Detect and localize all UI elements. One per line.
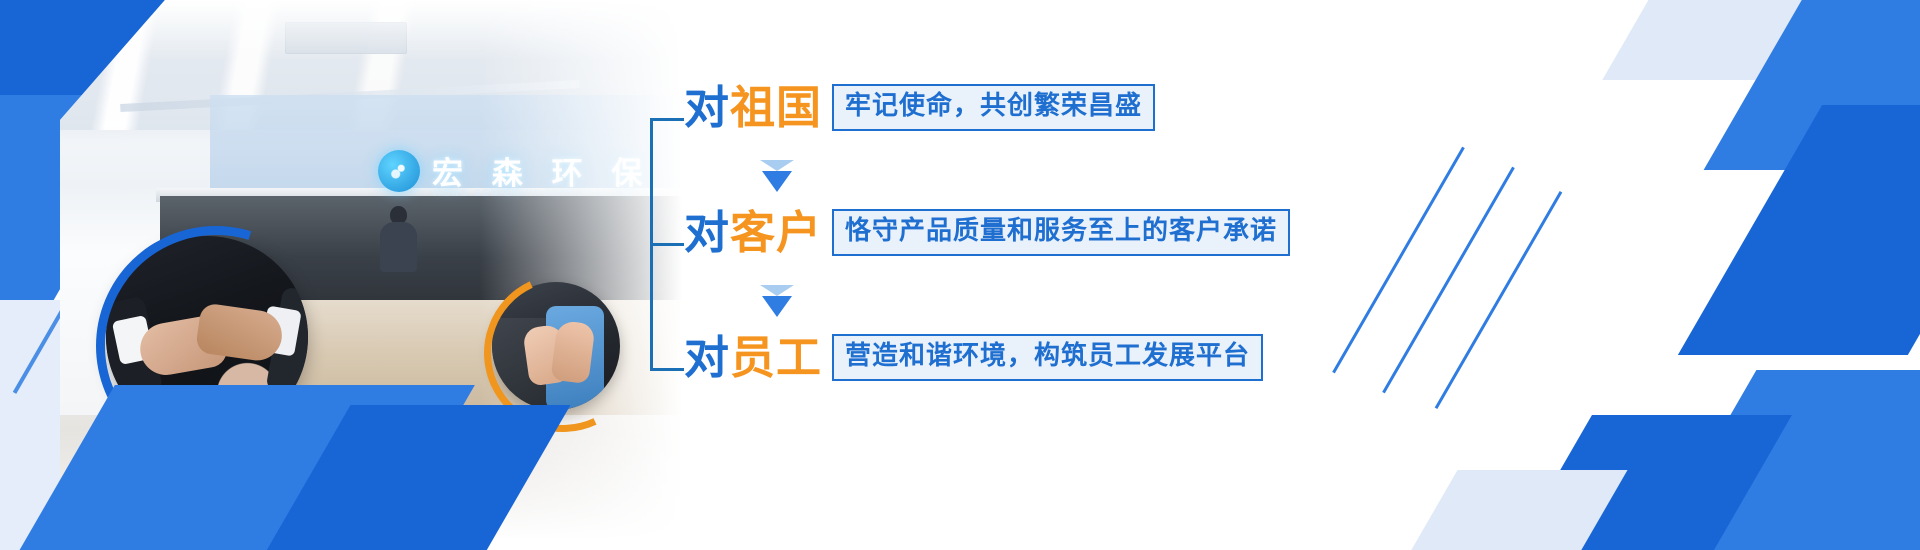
commitment-statement-employee: 营造和谐环境，构筑员工发展平台 (832, 334, 1263, 381)
lead-prefix-country: 对 (684, 81, 730, 134)
deco-right-bottom-dark (1488, 415, 1792, 550)
lead-prefix-customer: 对 (684, 206, 730, 259)
promo-banner: 宏 森 环 保 HONG SEN ENVIRONMENTAL PROTECTIO… (0, 0, 1920, 550)
bracket-tick-2 (650, 243, 684, 246)
commitment-row-customer: 对客户 恪守产品质量和服务至上的客户承诺 (684, 209, 1290, 256)
deco-right-bottom-pale (1382, 470, 1627, 550)
commitment-lead-employee: 对员工 (684, 335, 822, 380)
lead-prefix-employee: 对 (684, 331, 730, 384)
deco-right-mid-blue (1678, 105, 1920, 355)
bracket-tick-1 (650, 118, 684, 121)
lead-subject-employee: 员工 (730, 331, 822, 384)
deco-right-bottom-blue (1624, 370, 1920, 550)
bracket-tick-3 (650, 368, 684, 371)
deco-right-top-blue (1704, 0, 1920, 170)
company-logo-icon (378, 150, 420, 192)
deco-right-line-3 (1435, 191, 1563, 409)
lead-subject-country: 祖国 (730, 81, 822, 134)
triangle-top-1 (760, 160, 794, 171)
commitments-block: 对祖国 牢记使命，共创繁荣昌盛 对客户 恪守产品质量和服务至上的客户承诺 对员工… (650, 60, 1390, 490)
deco-right-line-2 (1382, 167, 1515, 394)
commitment-row-country: 对祖国 牢记使命，共创繁荣昌盛 (684, 84, 1155, 131)
commitment-statement-customer: 恪守产品质量和服务至上的客户承诺 (832, 209, 1290, 256)
commitment-lead-customer: 对客户 (684, 210, 822, 255)
commitment-statement-country: 牢记使命，共创繁荣昌盛 (832, 84, 1155, 131)
commitment-lead-country: 对祖国 (684, 85, 822, 130)
deco-right-pale (1602, 0, 1897, 80)
commitment-row-employee: 对员工 营造和谐环境，构筑员工发展平台 (684, 334, 1263, 381)
down-triangle-icon-2 (760, 285, 794, 317)
triangle-bottom-1 (762, 171, 792, 192)
triangle-top-2 (760, 285, 794, 296)
receptionist-figure (378, 206, 418, 272)
down-triangle-icon-1 (760, 160, 794, 192)
lead-subject-customer: 客户 (730, 206, 822, 259)
triangle-bottom-2 (762, 296, 792, 317)
